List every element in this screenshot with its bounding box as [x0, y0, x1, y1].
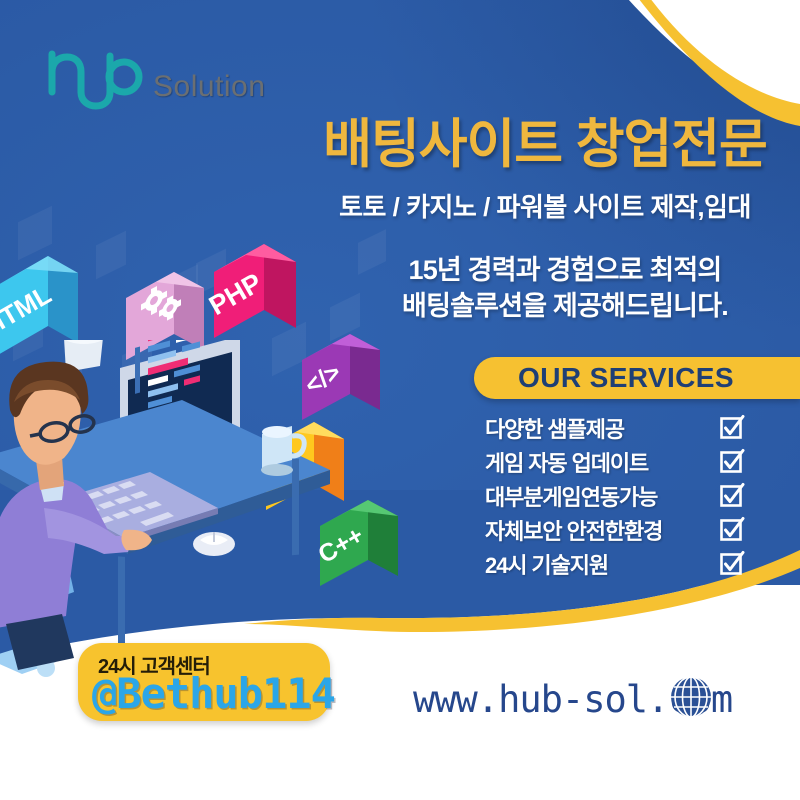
checkbox-checked-icon — [719, 517, 745, 543]
mouse — [193, 532, 235, 556]
service-label: 24시 기술지원 — [485, 548, 608, 580]
our-services-banner: OUR SERVICES — [474, 357, 800, 399]
service-label: 다양한 샘플제공 — [485, 412, 624, 444]
developer-illustration — [0, 340, 340, 680]
service-label: 게임 자동 업데이트 — [485, 446, 648, 478]
pitch-line-2: 배팅솔루션을 제공해드립니다. — [340, 288, 790, 324]
contact-pill[interactable]: 24시 고객센터 @Bethub114 — [78, 643, 330, 721]
page-title: 배팅사이트 창업전문 — [310, 116, 780, 173]
list-item: 대부분게임연동가능 — [485, 480, 745, 512]
checkbox-checked-icon — [719, 449, 745, 475]
pitch-line-1: 15년 경력과 경험으로 최적의 — [340, 252, 790, 288]
globe-icon — [669, 675, 713, 719]
logo-wordmark: Solution — [153, 70, 265, 104]
checkbox-checked-icon — [719, 415, 745, 441]
list-item: 24시 기술지원 — [485, 548, 745, 580]
headline-subtitle: 토토 / 카지노 / 파워볼 사이트 제작,임대 — [310, 187, 780, 224]
list-item: 다양한 샘플제공 — [485, 412, 745, 444]
service-label: 자체보안 안전한환경 — [485, 514, 662, 546]
list-item: 게임 자동 업데이트 — [485, 446, 745, 478]
service-label: 대부분게임연동가능 — [485, 480, 657, 512]
checkbox-checked-icon — [719, 551, 745, 577]
hub-logo-mark — [44, 48, 149, 110]
our-services-label: OUR SERVICES — [518, 362, 734, 394]
checkbox-checked-icon — [719, 483, 745, 509]
services-list: 다양한 샘플제공 게임 자동 업데이트 대부분게임연동가능 — [485, 412, 745, 582]
pitch-block: 15년 경력과 경험으로 최적의 배팅솔루션을 제공해드립니다. — [340, 252, 790, 324]
promo-banner: Solution 배팅사이트 창업전문 토토 / 카지노 / 파워볼 사이트 제… — [0, 0, 800, 800]
brand-logo: Solution — [44, 48, 265, 110]
list-item: 자체보안 안전한환경 — [485, 514, 745, 546]
headline-block: 배팅사이트 창업전문 토토 / 카지노 / 파워볼 사이트 제작,임대 — [310, 116, 780, 224]
messenger-handle[interactable]: @Bethub114 — [92, 669, 335, 718]
